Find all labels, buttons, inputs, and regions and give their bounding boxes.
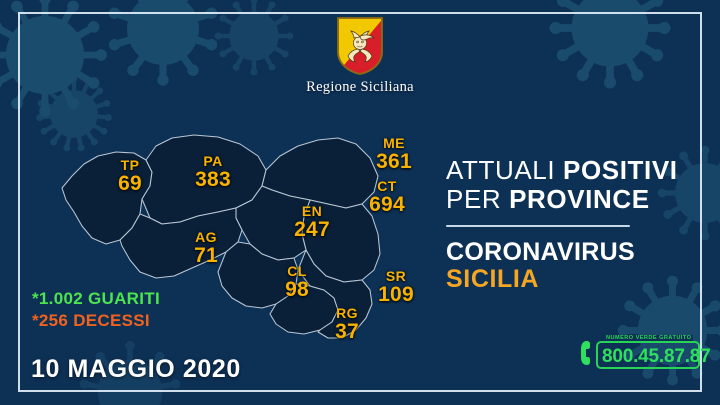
province-label-sr: SR 109	[378, 269, 414, 305]
province-value: 69	[118, 173, 142, 194]
headline-per: PER	[446, 184, 501, 214]
province-label-en: EN 247	[294, 204, 330, 240]
poster-canvas: Regione Siciliana	[0, 0, 720, 405]
province-value: 37	[335, 321, 359, 342]
province-label-ct: CT 694	[369, 179, 405, 215]
province-code: PA	[195, 154, 231, 169]
headline-attuali: ATTUALI	[446, 155, 555, 185]
headline-positivi: POSITIVI	[563, 155, 678, 185]
report-date: 10 MAGGIO 2020	[31, 355, 241, 384]
province-label-ag: AG 71	[194, 230, 218, 266]
summary-stats: *1.002 GUARITI *256 DECESSI	[32, 288, 160, 332]
headline-block: ATTUALI POSITIVI PER PROVINCE CORONAVIRU…	[446, 156, 704, 293]
province-label-tp: TP 69	[118, 158, 142, 194]
province-value: 383	[195, 169, 231, 190]
province-code: AG	[194, 230, 218, 245]
province-code: EN	[294, 204, 330, 219]
province-label-cl: CL 98	[285, 264, 309, 300]
phone-number[interactable]: 800.45.87.87	[602, 346, 711, 368]
emblem-caption: Regione Siciliana	[0, 79, 720, 96]
sicilian-trinacria-coat-of-arms-icon	[335, 16, 385, 76]
province-value: 71	[194, 245, 218, 266]
phone-handset-icon	[578, 338, 602, 368]
province-value: 361	[376, 151, 412, 172]
province-code: CT	[369, 179, 405, 194]
headline-divider	[446, 225, 630, 227]
province-value: 109	[378, 284, 414, 305]
province-label-rg: RG 37	[335, 306, 359, 342]
province-label-pa: PA 383	[195, 154, 231, 190]
province-code: RG	[335, 306, 359, 321]
province-code: SR	[378, 269, 414, 284]
province-code: CL	[285, 264, 309, 279]
headline-coronavirus: CORONAVIRUS	[446, 239, 704, 266]
headline-province: PROVINCE	[509, 184, 650, 214]
province-value: 98	[285, 279, 309, 300]
header-emblem-block: Regione Siciliana	[0, 16, 720, 96]
province-code: ME	[376, 136, 412, 151]
headline-line-2: PER PROVINCE	[446, 185, 704, 214]
province-value: 247	[294, 219, 330, 240]
stat-recovered: *1.002 GUARITI	[32, 288, 160, 310]
stat-deaths: *256 DECESSI	[32, 310, 160, 332]
headline-line-1: ATTUALI POSITIVI	[446, 156, 704, 185]
phone-caption: NUMERO VERDE GRATUITO	[604, 335, 693, 341]
province-value: 694	[369, 194, 405, 215]
toll-free-number-block[interactable]: NUMERO VERDE GRATUITO 800.45.87.87	[578, 337, 700, 369]
province-code: TP	[118, 158, 142, 173]
province-label-me: ME 361	[376, 136, 412, 172]
headline-sicilia: SICILIA	[446, 266, 704, 293]
